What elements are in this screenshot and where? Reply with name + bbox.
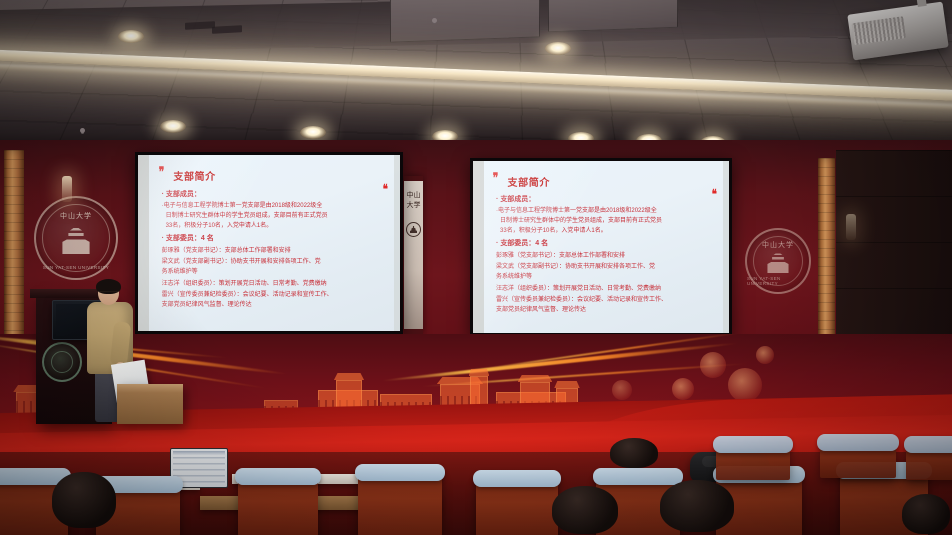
wall-sconce (62, 176, 72, 202)
audience-head (902, 494, 950, 534)
auditorium-seat[interactable] (716, 446, 790, 480)
audience-member (552, 486, 624, 535)
bokeh-light (700, 352, 726, 378)
committee-item: 务系统维护等 (162, 268, 390, 277)
committee-item: 彭琢雅（党支部书记）：支部总体工作部署和安排 (496, 252, 719, 261)
projection-screen-left: ❞ ❞ 支部简介 支部成员： ·电子与信息工程学院博士第一党支部是由2018级和… (135, 152, 403, 334)
side-table (117, 384, 183, 424)
slide-left-gutter (473, 161, 484, 333)
slide-paragraph-line: 33名，积极分子10名，入党申请人1名。 (162, 222, 390, 231)
committee-item: 雷兴（宣传委员兼纪检委员）：会议纪要、活动记录和宣传工作、 (496, 296, 719, 305)
glasses-icon (99, 291, 118, 296)
seat-headrest (235, 468, 321, 485)
slide-paragraph-line: ·电子与信息工程学院博士第一党支部是由2018级和2022级全 (496, 207, 719, 216)
slide-paragraph-line: 日制博士研究生群体中的学生党员组成，支部目前有正式党员 (162, 212, 390, 221)
audience-member (660, 480, 740, 535)
downlight (118, 30, 144, 43)
audience-head (610, 438, 658, 468)
seat-headrest (904, 436, 952, 453)
audience-head (552, 486, 618, 534)
slide-body: 支部成员： ·电子与信息工程学院博士第一党支部是由2018级和2022级全 日制… (496, 195, 719, 316)
committee-item: 支部党员纪律风气监督、理论传达 (496, 306, 719, 315)
committee-item: 梁文武（党支部副书记）：协助支书开展和安排各项工作、党 (496, 263, 719, 272)
ceiling (0, 0, 952, 152)
audience-head (660, 480, 734, 532)
slide-paragraph-line: ·电子与信息工程学院博士第一党支部是由2018级和2022级全 (162, 202, 390, 211)
slide-body: 支部成员： ·电子与信息工程学院博士第一党支部是由2018级和2022级全 日制… (162, 190, 390, 311)
slide-title: 支部简介 (508, 174, 550, 189)
auditorium-seat[interactable] (476, 480, 558, 535)
quote-mark-icon: ❞ (382, 178, 387, 188)
committee-item: 汪志洋（组织委员）：策划开展党日活动、日常考勤、党费缴纳 (162, 280, 390, 289)
bokeh-light (672, 378, 694, 400)
emblem-cn-text: 中山大学 (762, 240, 794, 250)
auditorium-seat[interactable] (820, 444, 896, 478)
ceiling-panel (390, 0, 540, 43)
slide-paragraph-line: 33名，积极分子10名，入党申请人1名。 (496, 227, 719, 236)
slide-left: ❞ ❞ 支部简介 支部成员： ·电子与信息工程学院博士第一党支部是由2018级和… (138, 155, 400, 331)
quote-mark-icon: ❞ (712, 183, 717, 193)
lecture-hall-photo: 中山大学 SUN YAT-SEN UNIVERSITY 中山大学 SUN YAT… (0, 0, 952, 535)
banner-top-cap (404, 176, 423, 181)
emblem-en-text: SUN YAT-SEN UNIVERSITY (43, 265, 109, 270)
audience-head (52, 472, 116, 528)
committee-item: 彭琢雅（党支部书记）：支部总体工作部署和安排 (162, 247, 390, 256)
slide-members-label: 支部成员： (162, 190, 390, 200)
audience-member (610, 438, 660, 470)
bokeh-light (728, 368, 762, 402)
audience-member (52, 472, 124, 535)
slide-paragraph-line: 日制博士研究生群体中的学生党员组成，支部目前有正式党员 (496, 217, 719, 226)
emblem-en-text: SUN YAT-SEN UNIVERSITY (747, 276, 809, 286)
auditorium-seat[interactable] (358, 474, 442, 535)
committee-item: 务系统维护等 (496, 273, 719, 282)
sprinkler-icon (80, 128, 85, 133)
slide-right-gutter (394, 155, 400, 331)
quote-mark-icon: ❞ (493, 173, 499, 183)
bokeh-light (612, 380, 632, 400)
banner-text: 中山大学 (404, 190, 423, 210)
audience-member (902, 494, 952, 535)
slide-right-gutter (723, 161, 729, 333)
slide-right: ❞ ❞ 支部简介 支部成员： ·电子与信息工程学院博士第一党支部是由2018级和… (473, 161, 729, 333)
slide-title: 支部简介 (173, 168, 215, 183)
slide-committee-label: 支部委员：4 名 (496, 239, 719, 249)
slide-members-label: 支部成员： (496, 195, 719, 205)
university-emblem-left: 中山大学 SUN YAT-SEN UNIVERSITY (34, 196, 118, 280)
slide-committee-label: 支部委员：4 名 (162, 234, 390, 244)
projector-lens-grille (851, 16, 906, 45)
auditorium-seat[interactable] (238, 478, 318, 535)
committee-item: 梁文武（党支部副书记）：协助支书开展和安排各项工作、党 (162, 258, 390, 267)
seat-headrest (355, 464, 446, 481)
committee-item: 支部党员纪律风气监督、理论传达 (162, 301, 390, 310)
projector-mount (916, 0, 927, 7)
ceiling-panel (548, 0, 678, 32)
slide-left-gutter (138, 155, 149, 331)
downlight (545, 42, 571, 55)
downlight (300, 126, 326, 139)
bokeh-light (756, 346, 774, 364)
hanging-banner: 中山大学 (404, 176, 423, 334)
banner-emblem-icon (406, 222, 421, 237)
quote-mark-icon: ❞ (158, 167, 164, 177)
auditorium-seat[interactable] (906, 446, 952, 480)
committee-item: 汪志洋（组织委员）：策划开展党日活动、日常考勤、党费缴纳 (496, 285, 719, 294)
wall-sconce (846, 214, 856, 240)
committee-item: 雷兴（宣传委员兼纪检委员）：会议纪要、活动记录和宣传工作、 (162, 291, 390, 300)
emblem-cn-text: 中山大学 (60, 211, 92, 221)
downlight (160, 120, 186, 133)
university-emblem-right: 中山大学 SUN YAT-SEN UNIVERSITY (745, 228, 811, 294)
podium-seal-icon (42, 342, 82, 382)
seat-headrest (817, 434, 899, 451)
seat-headrest (473, 470, 562, 487)
projection-screen-right: ❞ ❞ 支部简介 支部成员： ·电子与信息工程学院博士第一党支部是由2018级和… (470, 158, 732, 336)
sprinkler-icon (432, 18, 437, 23)
seat-headrest (713, 436, 793, 453)
